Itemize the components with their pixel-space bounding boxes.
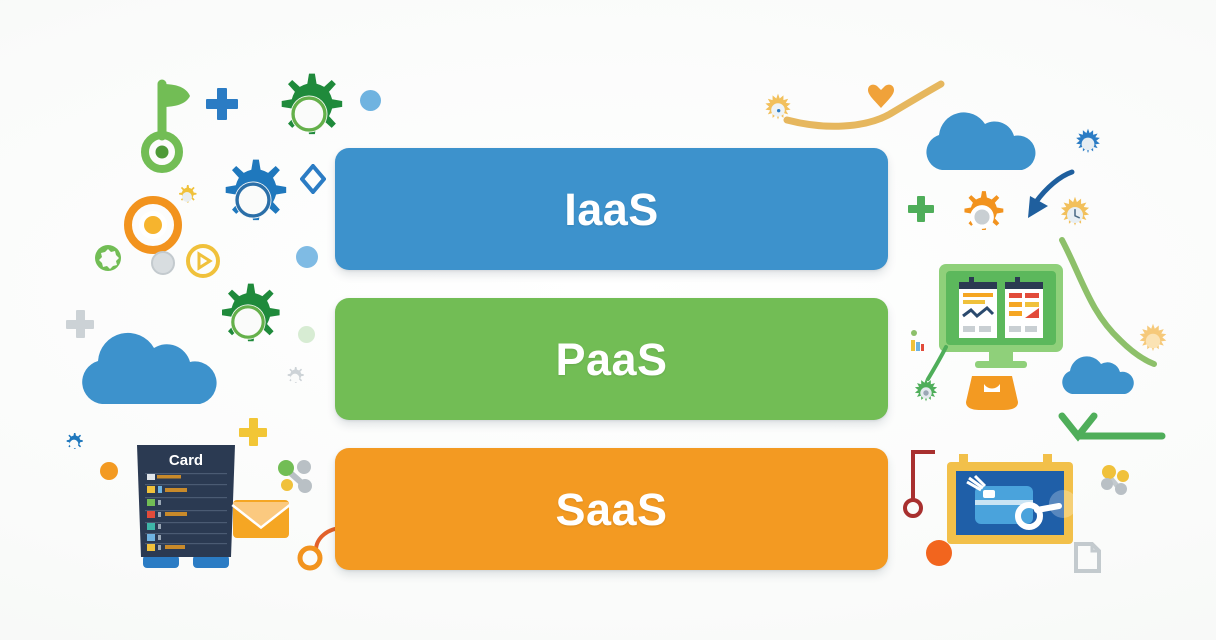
cloud-icon	[78, 324, 222, 408]
bar-label-saas: SaaS	[555, 487, 667, 532]
server-card-panel: Card	[131, 443, 241, 571]
bar-paas[interactable]: PaaS	[335, 298, 888, 420]
small-gear-icon	[174, 184, 200, 210]
document-icon	[1072, 542, 1102, 574]
sun-gear-icon	[1135, 323, 1171, 359]
bracket-line	[905, 448, 945, 522]
credit-card-board-icon	[945, 452, 1075, 548]
plus-icon	[66, 310, 94, 338]
gear-icon	[1072, 128, 1104, 160]
circle-dot-icon	[296, 246, 318, 268]
puzzle-piece-icon	[93, 243, 123, 273]
plus-icon	[206, 88, 238, 120]
gear-icon	[267, 72, 351, 156]
small-gear-icon	[911, 378, 941, 408]
music-note-pin-icon	[146, 74, 208, 172]
curved-connector-line	[755, 78, 955, 142]
bar-label-iaas: IaaS	[564, 187, 659, 232]
coin-play-icon	[185, 243, 221, 279]
clock-gear-icon	[1056, 196, 1094, 234]
report-board-icon	[937, 262, 1065, 370]
arrow-corner-line	[1054, 412, 1166, 462]
small-gear-icon	[283, 366, 307, 390]
concentric-circle-icon	[124, 196, 182, 254]
small-gear-icon	[149, 249, 177, 277]
molecule-icon	[1095, 462, 1135, 502]
heart-arrow-icon	[866, 81, 896, 111]
curved-connector-line	[918, 345, 952, 387]
sun-gear-icon	[761, 93, 795, 127]
small-gear-icon	[62, 432, 86, 456]
small-chart-icon	[909, 330, 925, 352]
circle-dot-icon	[100, 462, 118, 480]
svg-text:Card: Card	[169, 452, 203, 469]
gear-icon	[211, 158, 295, 242]
plus-icon	[239, 418, 267, 446]
bar-iaas[interactable]: IaaS	[335, 148, 888, 270]
bag-icon	[964, 372, 1020, 412]
cursor-arrow-icon	[1020, 166, 1080, 226]
plus-icon	[908, 196, 934, 222]
envelope-icon	[231, 496, 291, 542]
cloud-icon	[1058, 350, 1134, 396]
curved-connector-line	[1040, 212, 1180, 372]
bar-saas[interactable]: SaaS	[335, 448, 888, 570]
circle-dot-icon	[298, 326, 315, 343]
circle-dot-icon	[926, 540, 952, 566]
diagram-canvas: Card	[0, 0, 1216, 640]
molecule-icon	[274, 455, 318, 499]
service-model-bars: IaaS PaaS SaaS	[335, 148, 888, 570]
gear-icon	[955, 190, 1009, 244]
gear-icon	[208, 282, 288, 362]
bar-label-paas: PaaS	[555, 337, 667, 382]
circle-dot-icon	[360, 90, 381, 111]
cloud-icon	[922, 104, 1038, 174]
diamond-icon	[300, 164, 326, 199]
